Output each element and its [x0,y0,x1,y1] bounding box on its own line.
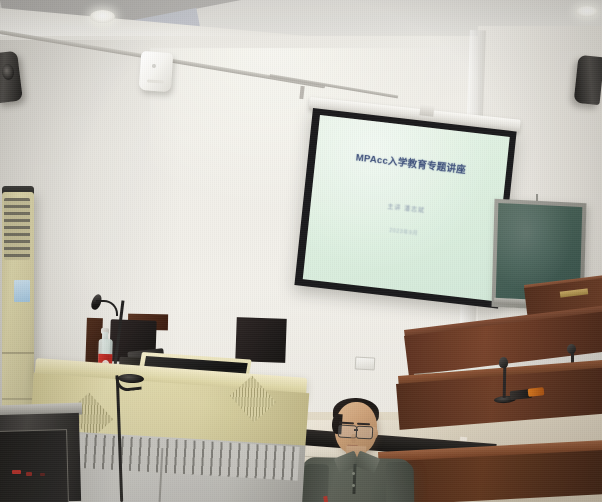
desk-microphone-stem [503,366,506,398]
handheld-device-orange[interactable] [528,387,545,397]
slide-date-line: 2023年9月 [389,227,419,237]
wifi-access-point-icon [139,51,174,92]
presenter-nose [351,434,356,443]
eyeglasses-lens-right [356,426,374,440]
desk-microphone-head [499,357,508,368]
equipment-rack-panel[interactable] [0,429,69,502]
lecture-hall-photo: MPAcc入学教育专题讲座 主讲 潘志斌 2023年9月 [0,0,602,502]
wall-outlet-plate[interactable] [355,356,376,370]
downlight-icon [90,10,115,23]
presenter-standing [150,196,278,376]
desk-microphone-head [567,344,576,354]
screen-housing-cap [419,103,434,116]
slide-title: MPAcc入学教育专题讲座 [355,149,467,176]
slide-content: MPAcc入学教育专题讲座 主讲 潘志斌 2023年9月 [303,115,510,301]
air-conditioner-label [14,280,30,302]
status-led-icon [26,472,32,476]
status-led-icon [12,470,21,474]
eyeglasses-bridge [354,429,358,431]
downlight-icon [576,6,598,17]
wall-speaker-right [574,55,602,105]
slide-speaker-line: 主讲 潘志斌 [387,201,425,214]
air-conditioner-vents [4,198,30,260]
status-led-icon [40,473,45,476]
floor-debris [460,437,467,442]
panel-seam [2,352,34,354]
panel-seam [2,398,34,400]
polo-sleeve-right [386,462,415,502]
